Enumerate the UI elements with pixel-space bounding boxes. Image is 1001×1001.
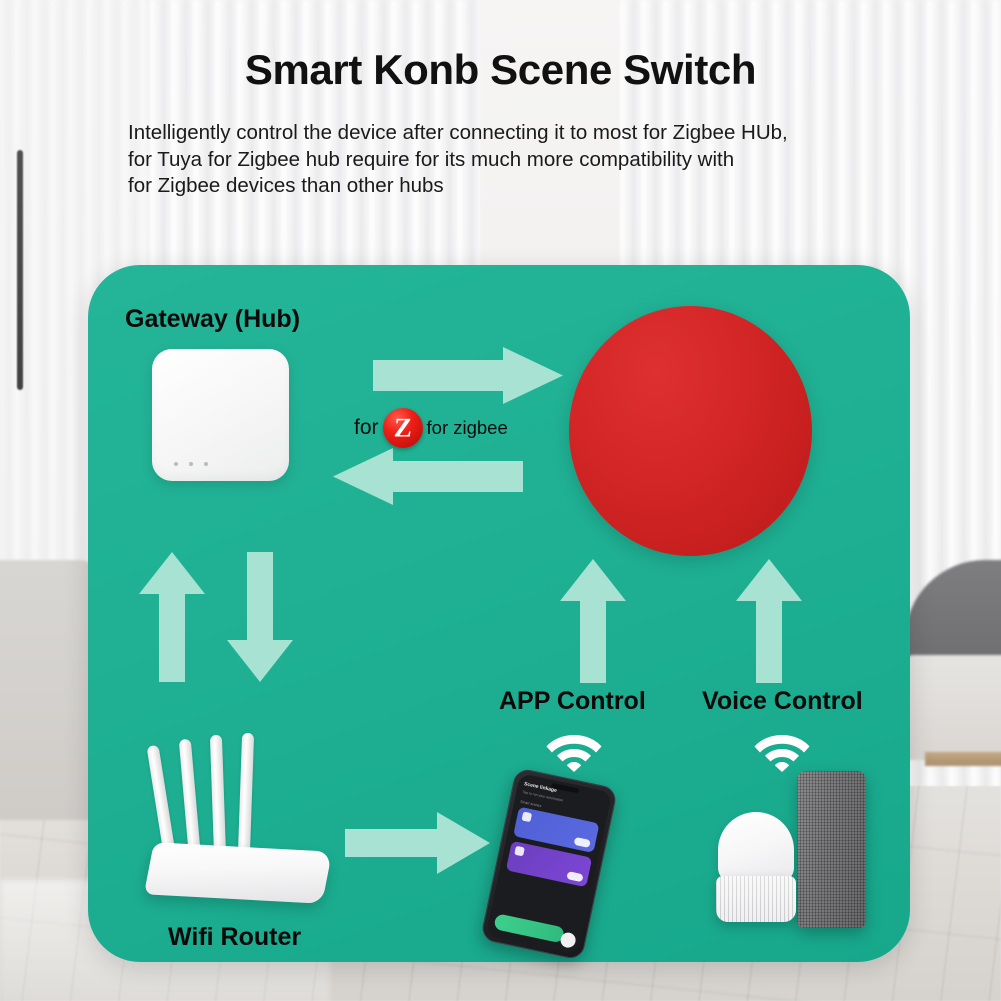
wifi-icon-voice [754, 730, 810, 772]
app-card-two-toggle[interactable] [566, 871, 583, 882]
router-antenna-4 [238, 733, 254, 855]
google-home-top [718, 812, 794, 882]
zigbee-badge: for for zigbee [354, 408, 508, 448]
wifi-router-label: Wifi Router [168, 923, 301, 952]
hub-led-2 [189, 462, 193, 466]
app-card-one-icon [521, 812, 532, 823]
hub-led-group [174, 462, 208, 466]
subtitle-line-2: for Tuya for Zigbee hub require for its … [128, 147, 888, 174]
subtitle-line-3: for Zigbee devices than other hubs [128, 173, 888, 200]
app-card-one-toggle[interactable] [574, 837, 591, 848]
voice-control-label: Voice Control [702, 687, 863, 716]
wifi-router-device [140, 735, 375, 905]
gateway-label: Gateway (Hub) [125, 305, 300, 334]
router-antenna-3 [210, 735, 226, 857]
zigbee-suffix-label: for zigbee [427, 417, 508, 439]
google-home-base [716, 876, 796, 922]
floor-lamp-icon [17, 150, 23, 390]
arrow-up-icon-app-to-knob [560, 559, 626, 683]
gateway-hub-device [152, 349, 289, 481]
zigbee-logo-icon [383, 408, 423, 448]
product-infographic: Smart Konb Scene Switch Intelligently co… [0, 0, 1001, 1001]
zigbee-prefix-label: for [354, 416, 379, 440]
subtitle-line-1: Intelligently control the device after c… [128, 120, 888, 147]
background-sofa-left [0, 560, 95, 820]
arrow-up-icon-router-to-hub [139, 552, 205, 682]
arrow-down-icon-hub-to-router [227, 552, 293, 682]
background-sofa-right-leg [925, 752, 1001, 766]
page-title: Smart Konb Scene Switch [0, 46, 1001, 94]
page-subtitle: Intelligently control the device after c… [128, 120, 888, 200]
arrow-up-icon-voice-to-knob [736, 559, 802, 683]
background-sofa-right-seat [900, 655, 1001, 760]
router-body [144, 842, 332, 903]
arrow-right-icon-hub-to-knob [373, 347, 563, 404]
red-scene-knob[interactable] [569, 306, 812, 556]
hub-led-1 [174, 462, 178, 466]
hub-led-3 [204, 462, 208, 466]
arrow-left-icon-knob-to-hub [333, 448, 523, 505]
arrow-right-icon-router-to-phone [345, 812, 490, 874]
app-control-label: APP Control [499, 687, 646, 716]
app-add-scene-button[interactable] [493, 913, 565, 943]
wifi-icon-app [546, 730, 602, 772]
amazon-echo-speaker[interactable] [797, 771, 866, 928]
google-home-speaker[interactable] [714, 812, 798, 924]
app-card-two-icon [514, 846, 525, 857]
app-fab-button[interactable] [559, 931, 577, 949]
